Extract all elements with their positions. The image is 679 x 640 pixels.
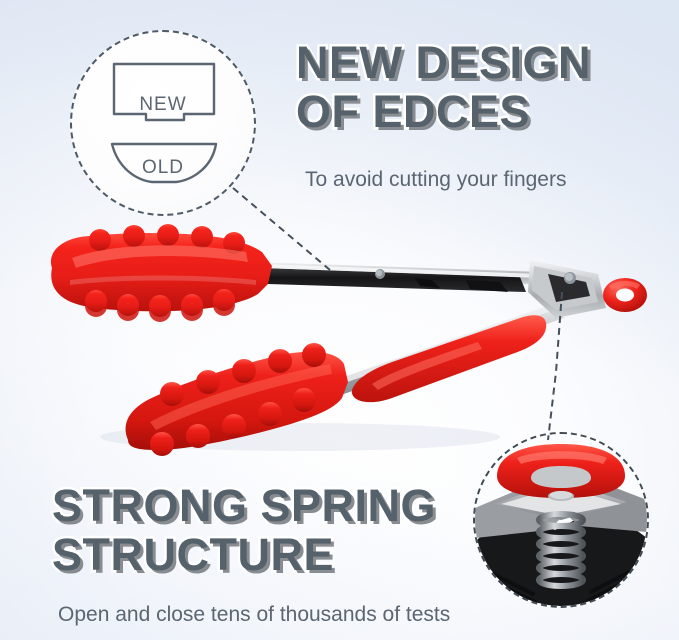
headline-bottom-line2: STRUCTURE (52, 532, 436, 578)
inset-label-old: OLD (72, 157, 254, 179)
headline-top-line1: NEW DESIGN (296, 37, 591, 88)
subtitle-top: To avoid cutting your fingers (305, 168, 566, 192)
inset-spring-structure (473, 432, 649, 608)
edges-comparison-diagram (72, 32, 254, 214)
headline-bottom: STRONG SPRING STRUCTURE (52, 483, 436, 578)
product-feature-poster: NEW OLD (0, 0, 679, 640)
headline-top: NEW DESIGN OF EDCES (296, 40, 591, 135)
inset-edges-comparison: NEW OLD (70, 30, 256, 216)
headline-bottom-line1: STRONG SPRING (52, 480, 436, 531)
spring-structure-photo (475, 434, 647, 606)
inset-label-new: NEW (72, 94, 254, 116)
headline-top-line2: OF EDCES (296, 89, 591, 135)
subtitle-bottom: Open and close tens of thousands of test… (58, 603, 450, 627)
